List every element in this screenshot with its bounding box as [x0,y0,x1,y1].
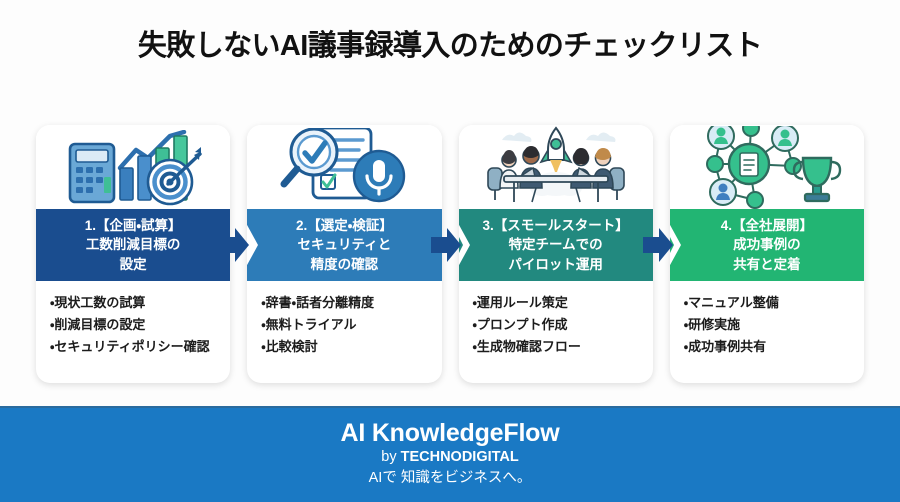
list-item: ・辞書・話者分離精度 [261,295,441,312]
step-4-heading-line-3: 共有と定着 [733,255,801,274]
page-title: 失敗しないAI議事録導入のためのチェックリスト [0,22,900,64]
list-item: ・セキュリティポリシー確認 [50,339,230,356]
byline-company: TECHNODIGITAL [401,449,519,465]
steps-row: 1.【企画・試算】 工数削減目標の 設定 ・現状工数の試算 ・削減目標の設定 ・… [36,125,864,383]
step-2-heading-line-2: セキュリティと [298,235,392,254]
step-4-heading-line-2: 成功事例の [733,235,801,254]
step-4-heading: 4.【全社展開】 成功事例の 共有と定着 [670,209,864,281]
step-2-heading-line-1: 2.【選定・検証】 [296,216,393,235]
list-item: ・運用ルール策定 [473,295,653,312]
brand-name: AI KnowledgeFlow [340,419,559,448]
step-card-3[interactable]: 3.【スモールスタート】 特定チームでの パイロット運用 ・運用ルール策定 ・プ… [459,125,653,383]
list-item: ・削減目標の設定 [50,317,230,334]
list-item: ・マニュアル整備 [684,295,864,312]
list-item: ・研修実施 [684,317,864,334]
step-1-heading-line-3: 設定 [120,255,147,274]
byline: by TECHNODIGITAL [381,449,518,466]
list-item: ・現状工数の試算 [50,295,230,312]
list-item: ・無料トライアル [261,317,441,334]
calculator-chart-target-icon [36,125,230,209]
chevron-notch-icon [247,209,263,281]
chevron-notch-icon [459,209,475,281]
step-3-heading-line-3: パイロット運用 [508,255,603,274]
footer-banner: AI KnowledgeFlow by TECHNODIGITAL AIで 知識… [0,406,900,502]
step-1-bullets: ・現状工数の試算 ・削減目標の設定 ・セキュリティポリシー確認 [36,281,230,383]
list-item: ・プロンプト作成 [473,317,653,334]
step-1-heading: 1.【企画・試算】 工数削減目標の 設定 [36,209,230,281]
chevron-notch-icon [670,209,686,281]
step-3-heading: 3.【スモールスタート】 特定チームでの パイロット運用 [459,209,653,281]
step-3-heading-line-1: 3.【スモールスタート】 [482,216,628,235]
step-2-bullets: ・辞書・話者分離精度 ・無料トライアル ・比較検討 [247,281,441,383]
step-4-heading-line-1: 4.【全社展開】 [721,216,813,235]
magnifier-checklist-microphone-icon [247,125,441,209]
list-item: ・比較検討 [261,339,441,356]
step-card-2[interactable]: 2.【選定・検証】 セキュリティと 精度の確認 ・辞書・話者分離精度 ・無料トラ… [247,125,441,383]
team-meeting-rocket-icon [459,125,653,209]
step-3-heading-line-2: 特定チームでの [509,235,603,254]
infographic-page: 失敗しないAI議事録導入のためのチェックリスト [0,0,900,502]
step-card-1[interactable]: 1.【企画・試算】 工数削減目標の 設定 ・現状工数の試算 ・削減目標の設定 ・… [36,125,230,383]
step-2-heading-line-3: 精度の確認 [311,255,379,274]
step-1-heading-line-2: 工数削減目標の [86,235,181,254]
list-item: ・成功事例共有 [684,339,864,356]
list-item: ・生成物確認フロー [473,339,653,356]
step-4-bullets: ・マニュアル整備 ・研修実施 ・成功事例共有 [670,281,864,383]
step-2-heading: 2.【選定・検証】 セキュリティと 精度の確認 [247,209,441,281]
step-card-4[interactable]: 4.【全社展開】 成功事例の 共有と定着 ・マニュアル整備 ・研修実施 ・成功事… [670,125,864,383]
byline-prefix: by [381,449,400,465]
network-document-trophy-icon [670,125,864,209]
step-3-bullets: ・運用ルール策定 ・プロンプト作成 ・生成物確認フロー [459,281,653,383]
tagline: AIで 知識をビジネスへ。 [369,470,532,487]
step-1-heading-line-1: 1.【企画・試算】 [85,216,182,235]
